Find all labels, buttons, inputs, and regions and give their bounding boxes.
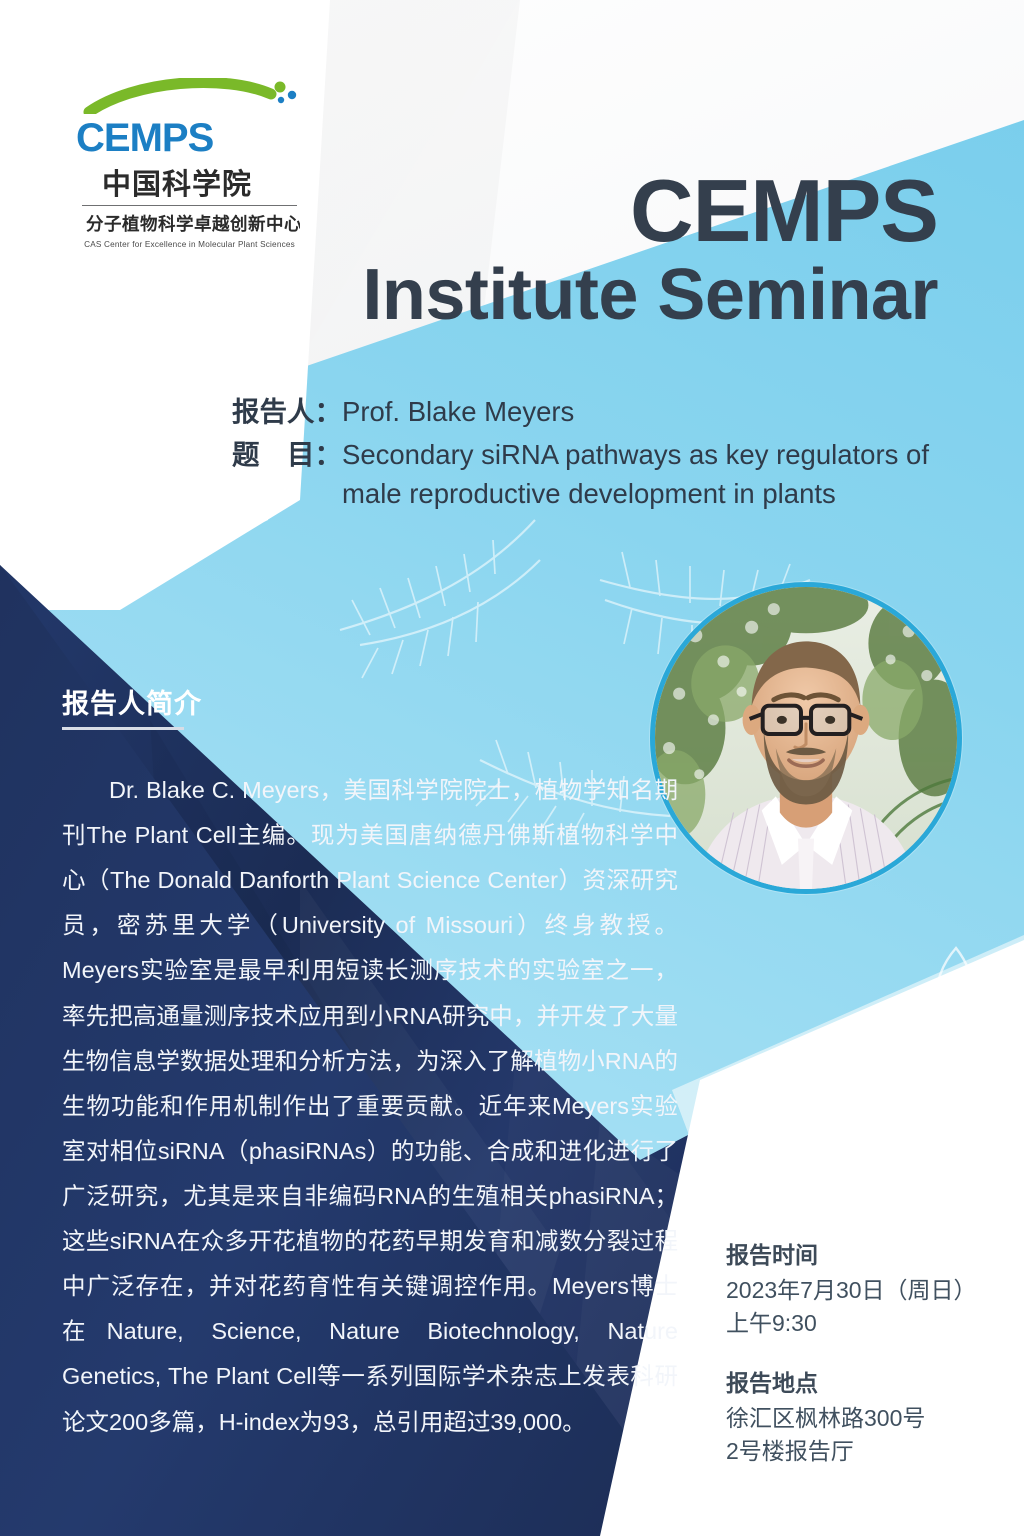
speaker-value: Prof. Blake Meyers — [342, 392, 574, 431]
poster-title: CEMPS Institute Seminar — [362, 168, 938, 331]
portrait-photo-image — [655, 587, 957, 889]
title-line-institute-seminar: Institute Seminar — [362, 260, 938, 331]
logo-divider — [82, 205, 297, 206]
seminar-meta: 报告人： Prof. Blake Meyers 题 目： Secondary s… — [232, 392, 962, 513]
speaker-label: 报告人： — [232, 392, 342, 431]
title-line-cemps: CEMPS — [362, 168, 938, 254]
place-address: 徐汇区枫林路300号 — [726, 1402, 925, 1435]
cemps-logo: CEMPS 中国科学院 分子植物科学卓越创新中心 CAS Center for … — [62, 78, 317, 249]
speaker-portrait — [650, 582, 962, 894]
bio-text-body: Dr. Blake C. Meyers，美国科学院院士，植物学知名期刊The P… — [62, 768, 678, 1445]
topic-row: 题 目： Secondary siRNA pathways as key reg… — [232, 435, 962, 513]
time-title: 报告时间 — [726, 1236, 977, 1270]
logo-academy-cn-text: 中国科学院 — [102, 167, 252, 201]
logo-center-cn-text: 分子植物科学卓越创新中心 — [86, 214, 300, 235]
time-date: 2023年7月30日（周日） — [726, 1274, 977, 1307]
logo-center-cn-icon: 分子植物科学卓越创新中心 — [80, 209, 300, 237]
logo-center-en-text: CAS Center for Excellence in Molecular P… — [62, 240, 317, 249]
time-hour: 上午9:30 — [726, 1307, 977, 1340]
topic-value: Secondary siRNA pathways as key regulato… — [342, 435, 962, 513]
speaker-row: 报告人： Prof. Blake Meyers — [232, 392, 962, 431]
place-room: 2号楼报告厅 — [726, 1435, 925, 1468]
bio-heading: 报告人简介 — [62, 682, 202, 721]
seminar-place-block: 报告地点 徐汇区枫林路300号 2号楼报告厅 — [726, 1364, 925, 1467]
logo-academy-cn-icon: 中国科学院 — [80, 164, 300, 202]
logo-wordmark-text: CEMPS — [76, 116, 214, 160]
place-title: 报告地点 — [726, 1364, 925, 1398]
bio-heading-divider — [62, 727, 184, 730]
logo-wordmark-icon: CEMPS — [74, 116, 306, 160]
seminar-time-block: 报告时间 2023年7月30日（周日） 上午9:30 — [726, 1236, 977, 1339]
seminar-poster: CEMPS 中国科学院 分子植物科学卓越创新中心 CAS Center for … — [0, 0, 1024, 1536]
logo-arc-icon — [75, 78, 305, 114]
bio-paragraph: Dr. Blake C. Meyers，美国科学院院士，植物学知名期刊The P… — [62, 768, 678, 1445]
topic-label: 题 目： — [232, 435, 342, 474]
